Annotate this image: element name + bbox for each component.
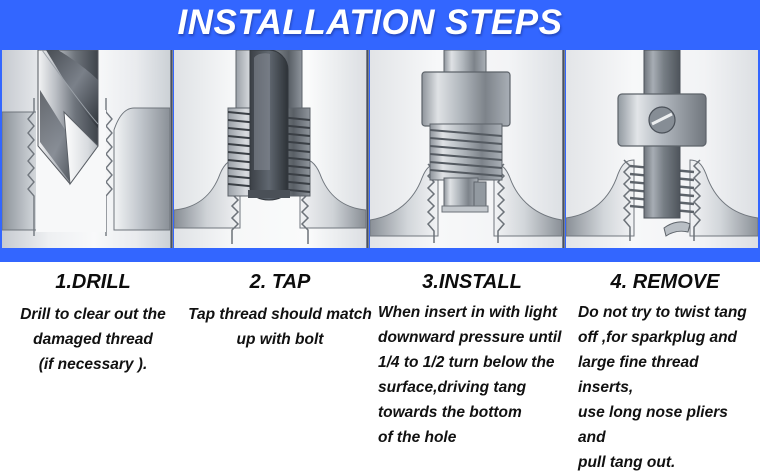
- step-title: 4. REMOVE: [570, 262, 760, 294]
- step-body-line: use long nose pliers and: [578, 400, 756, 450]
- step-body-line: Do not try to twist tang: [578, 300, 756, 325]
- tap-illustration: [174, 50, 366, 248]
- illustration-strip: [0, 48, 760, 262]
- step-body-line: off ,for sparkplug and: [578, 325, 756, 350]
- step-body-line: downward pressure until: [378, 325, 566, 350]
- step-title: 3.INSTALL: [374, 262, 570, 294]
- step-body-line: (if necessary ).: [0, 352, 186, 377]
- panel-divider-1: [170, 50, 173, 248]
- step-body-line: surface,driving tang: [378, 375, 566, 400]
- strip-bottom-bar: [0, 248, 760, 262]
- page-title: INSTALLATION STEPS: [0, 3, 740, 43]
- step-body-line: 1/4 to 1/2 turn below the: [378, 350, 566, 375]
- step-body-line: large fine thread inserts,: [578, 350, 756, 400]
- step-body: Tap thread should match up with bolt: [186, 294, 374, 352]
- steps-caption-row: 1.DRILL Drill to clear out the damaged t…: [0, 262, 760, 445]
- step-body: Do not try to twist tang off ,for sparkp…: [570, 294, 760, 475]
- step-install: 3.INSTALL When insert in with light down…: [374, 262, 570, 445]
- step-body-line: of the hole: [378, 425, 566, 450]
- drill-illustration: [2, 50, 170, 248]
- step-body-line: up with bolt: [186, 327, 374, 352]
- step-drill: 1.DRILL Drill to clear out the damaged t…: [0, 262, 186, 445]
- step-title: 2. TAP: [186, 262, 374, 294]
- step-tap: 2. TAP Tap thread should match up with b…: [186, 262, 374, 445]
- step-title: 1.DRILL: [0, 262, 186, 294]
- step-body-line: Tap thread should match: [186, 302, 374, 327]
- step-body-line: towards the bottom: [378, 400, 566, 425]
- install-illustration: [370, 50, 562, 248]
- step-body-line: pull tang out.: [578, 450, 756, 475]
- step-remove: 4. REMOVE Do not try to twist tang off ,…: [570, 262, 760, 445]
- step-body: When insert in with light downward press…: [374, 294, 570, 450]
- remove-illustration: [566, 50, 758, 248]
- step-body-line: Drill to clear out the: [0, 302, 186, 327]
- panel-divider-2: [366, 50, 369, 248]
- step-body-line: When insert in with light: [378, 300, 566, 325]
- installation-steps-infographic: INSTALLATION STEPS: [0, 0, 760, 445]
- step-body: Drill to clear out the damaged thread (i…: [0, 294, 186, 377]
- panel-divider-3: [562, 50, 565, 248]
- title-banner: INSTALLATION STEPS: [0, 0, 760, 48]
- step-body-line: damaged thread: [0, 327, 186, 352]
